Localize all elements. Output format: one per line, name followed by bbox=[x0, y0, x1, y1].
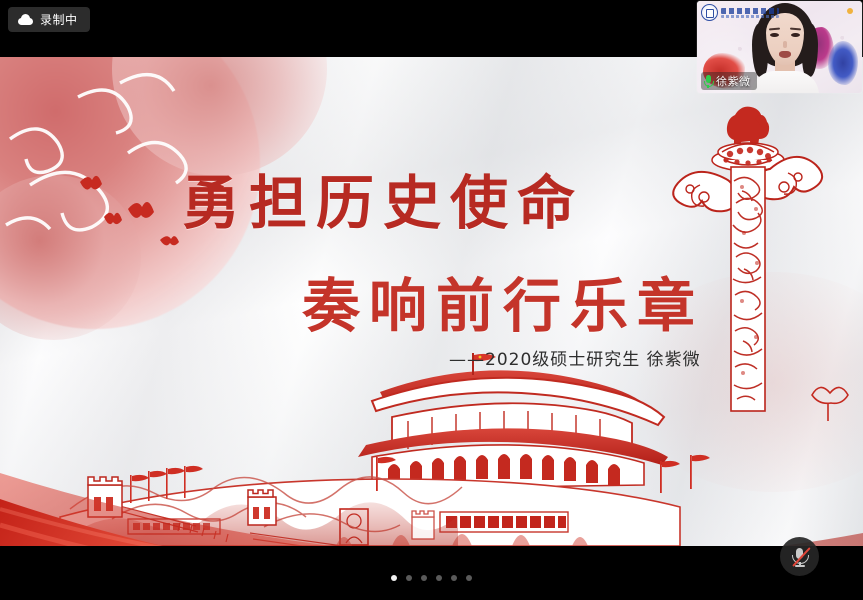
wordmark-chinese bbox=[721, 8, 779, 14]
portrait-hair-right bbox=[802, 23, 818, 77]
participant-name-label: 徐紫微 bbox=[716, 73, 751, 89]
pager-dot-1[interactable] bbox=[391, 575, 397, 581]
watchtower-distant bbox=[412, 511, 434, 539]
pager-dot-5[interactable] bbox=[451, 575, 457, 581]
microphone-on-icon bbox=[704, 75, 712, 88]
cloud-swirl-outlines bbox=[6, 75, 186, 230]
decor-blue-splash bbox=[828, 41, 858, 85]
webcam-video-tile[interactable]: 徐紫微 bbox=[697, 1, 862, 93]
presentation-slide[interactable]: 勇担历史使命 奏响前行乐章 ——2020级硕士研究生 徐紫微 bbox=[0, 57, 863, 546]
pager-dot-4[interactable] bbox=[436, 575, 442, 581]
huabiao-pillar-illustration bbox=[673, 107, 822, 411]
portrait-nose bbox=[783, 41, 787, 48]
wordmark-english bbox=[721, 15, 779, 18]
pager-dot-3[interactable] bbox=[421, 575, 427, 581]
university-wordmark bbox=[721, 8, 779, 18]
flying-birds-illustration bbox=[80, 176, 179, 246]
microphone-muted-icon bbox=[790, 546, 810, 568]
slide-pager[interactable] bbox=[0, 575, 863, 581]
slide-illustration-layer bbox=[0, 57, 863, 546]
recording-status-badge[interactable]: 录制中 bbox=[8, 7, 90, 32]
screen-share-window: 勇担历史使命 奏响前行乐章 ——2020级硕士研究生 徐紫微 录制中 bbox=[0, 0, 863, 600]
mute-microphone-button[interactable] bbox=[780, 537, 819, 576]
portrait-eye-right bbox=[791, 33, 800, 37]
pager-dot-6[interactable] bbox=[466, 575, 472, 581]
university-logo-watermark bbox=[701, 4, 779, 21]
university-seal-icon bbox=[701, 4, 718, 21]
participant-name-plate: 徐紫微 bbox=[701, 72, 757, 90]
pager-dot-2[interactable] bbox=[406, 575, 412, 581]
portrait-mouth bbox=[779, 51, 791, 58]
cloud-icon bbox=[18, 14, 33, 25]
watchtower-secondary bbox=[248, 490, 276, 525]
secondary-pillar-illustration bbox=[812, 387, 848, 421]
decor-yellow-dot bbox=[847, 8, 853, 14]
portrait-eye-left bbox=[770, 33, 779, 37]
recording-status-label: 录制中 bbox=[40, 11, 78, 28]
